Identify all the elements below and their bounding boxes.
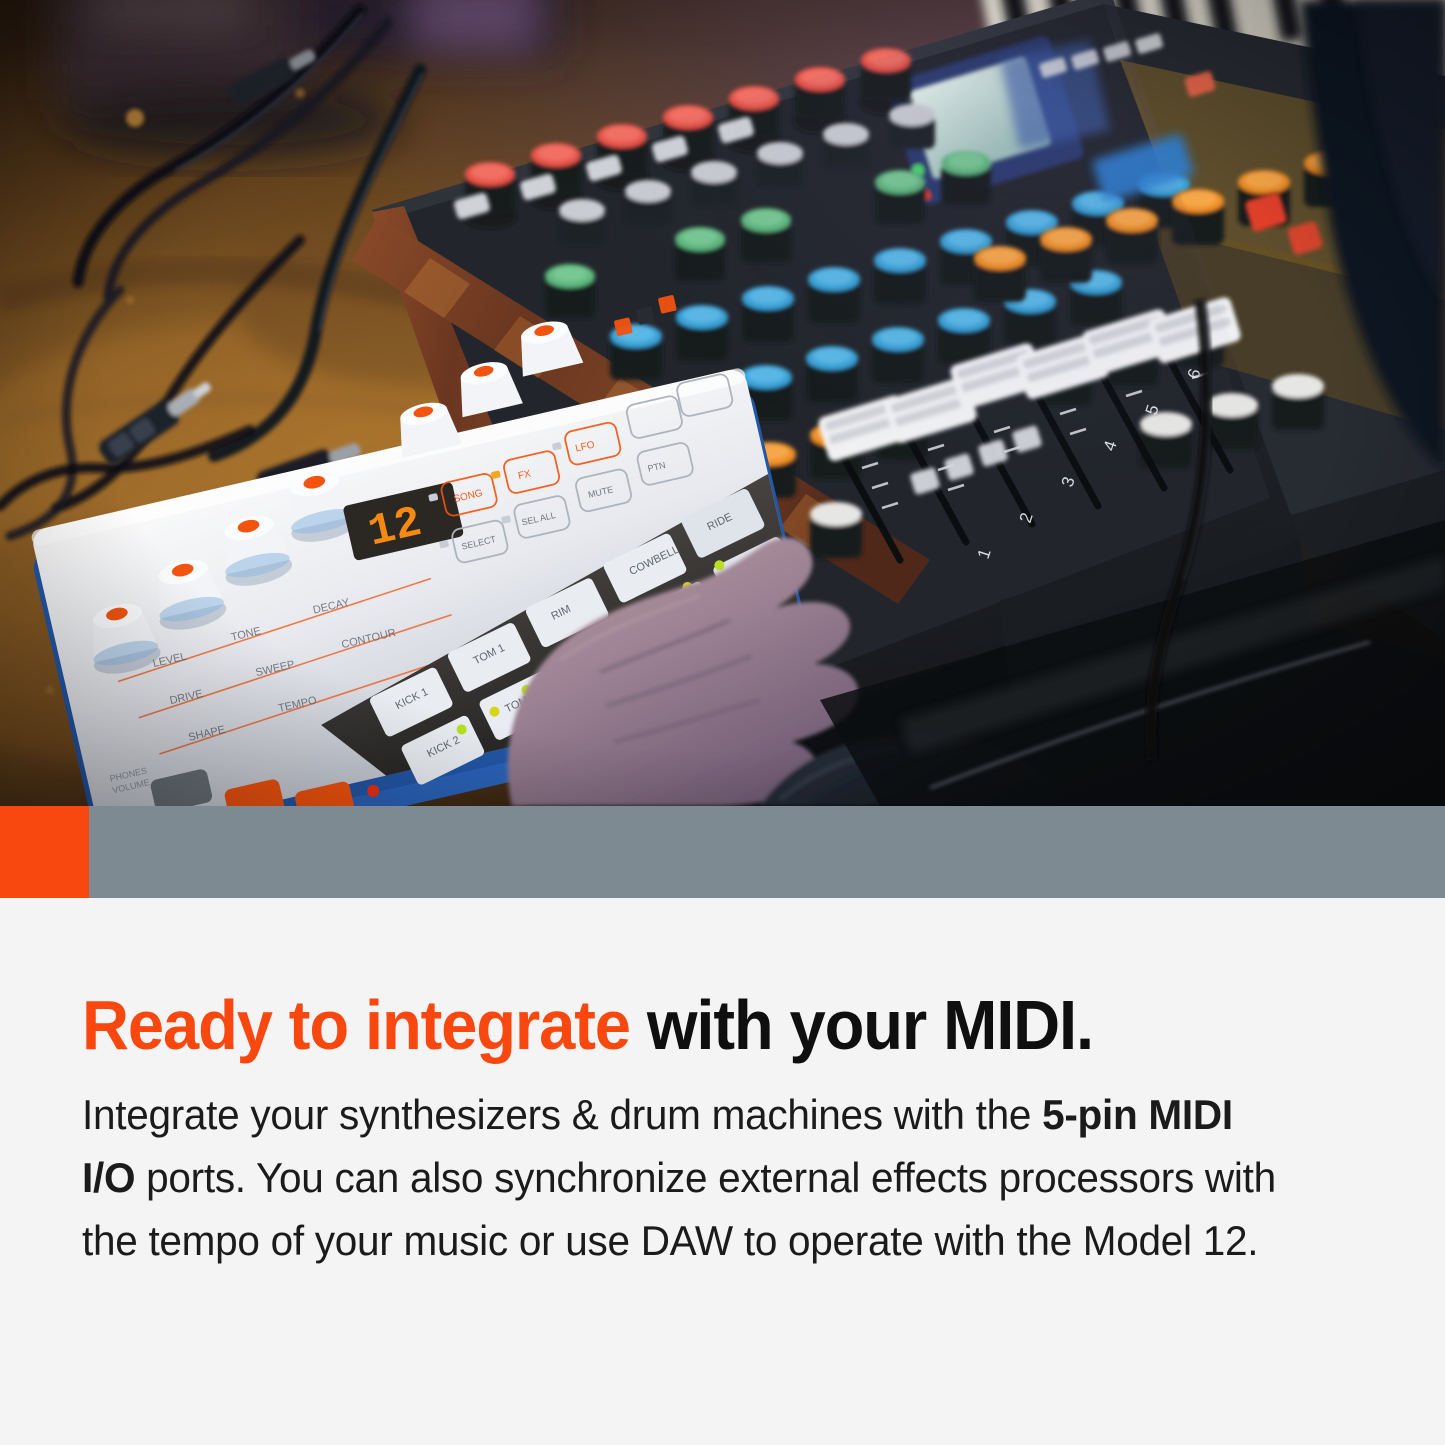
hero-photo: 1 2 3 4 5 6	[0, 0, 1445, 806]
body-segment-1: Integrate your synthesizers & drum machi…	[82, 1091, 1042, 1138]
body-segment-2: ports. You can also synchronize external…	[82, 1154, 1276, 1264]
divider-accent-block	[0, 806, 89, 898]
feature-card: 1 2 3 4 5 6	[0, 0, 1445, 1445]
divider-bar	[0, 806, 1445, 898]
page-title: Ready to integrate with your MIDI.	[82, 986, 1245, 1064]
text-section: Ready to integrate with your MIDI. Integ…	[0, 898, 1445, 1445]
body-paragraph: Integrate your synthesizers & drum machi…	[82, 1083, 1286, 1272]
headline-accent: Ready to integrate	[82, 986, 630, 1064]
divider-gray-block	[89, 806, 1445, 898]
headline-dark: with your MIDI.	[630, 986, 1093, 1064]
